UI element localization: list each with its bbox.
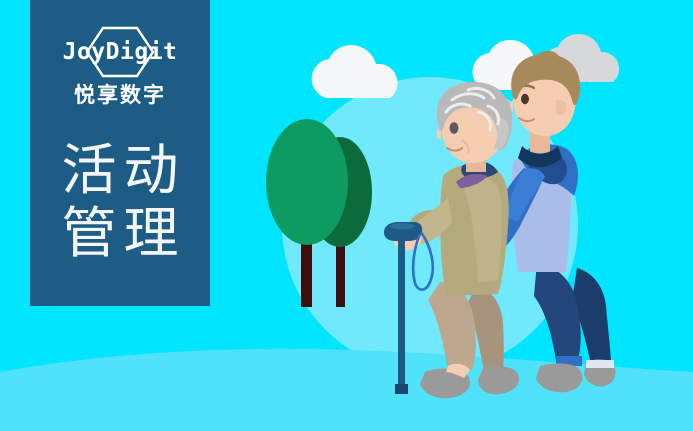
- page-title: 活动 管理: [54, 139, 185, 266]
- cane-tip: [395, 384, 408, 394]
- logo-wordmark: JoyDigit: [63, 41, 178, 64]
- young-man-rear-sock: [586, 360, 614, 368]
- logo-mark: JoyDigit: [50, 26, 190, 78]
- cane-shaft: [398, 238, 405, 388]
- young-man-eye: [521, 94, 529, 104]
- activity-management-banner: JoyDigit 悦享数字 活动 管理: [0, 0, 693, 431]
- title-panel: JoyDigit 悦享数字 活动 管理: [30, 0, 210, 306]
- tree-front-foliage: [266, 119, 348, 245]
- elderly-woman-eye: [450, 122, 459, 134]
- logo-chinese-name: 悦享数字: [74, 84, 166, 107]
- page-title-line-2: 管理: [54, 202, 185, 265]
- page-title-line-1: 活动: [54, 139, 185, 202]
- brand-logo: JoyDigit 悦享数字: [30, 26, 210, 107]
